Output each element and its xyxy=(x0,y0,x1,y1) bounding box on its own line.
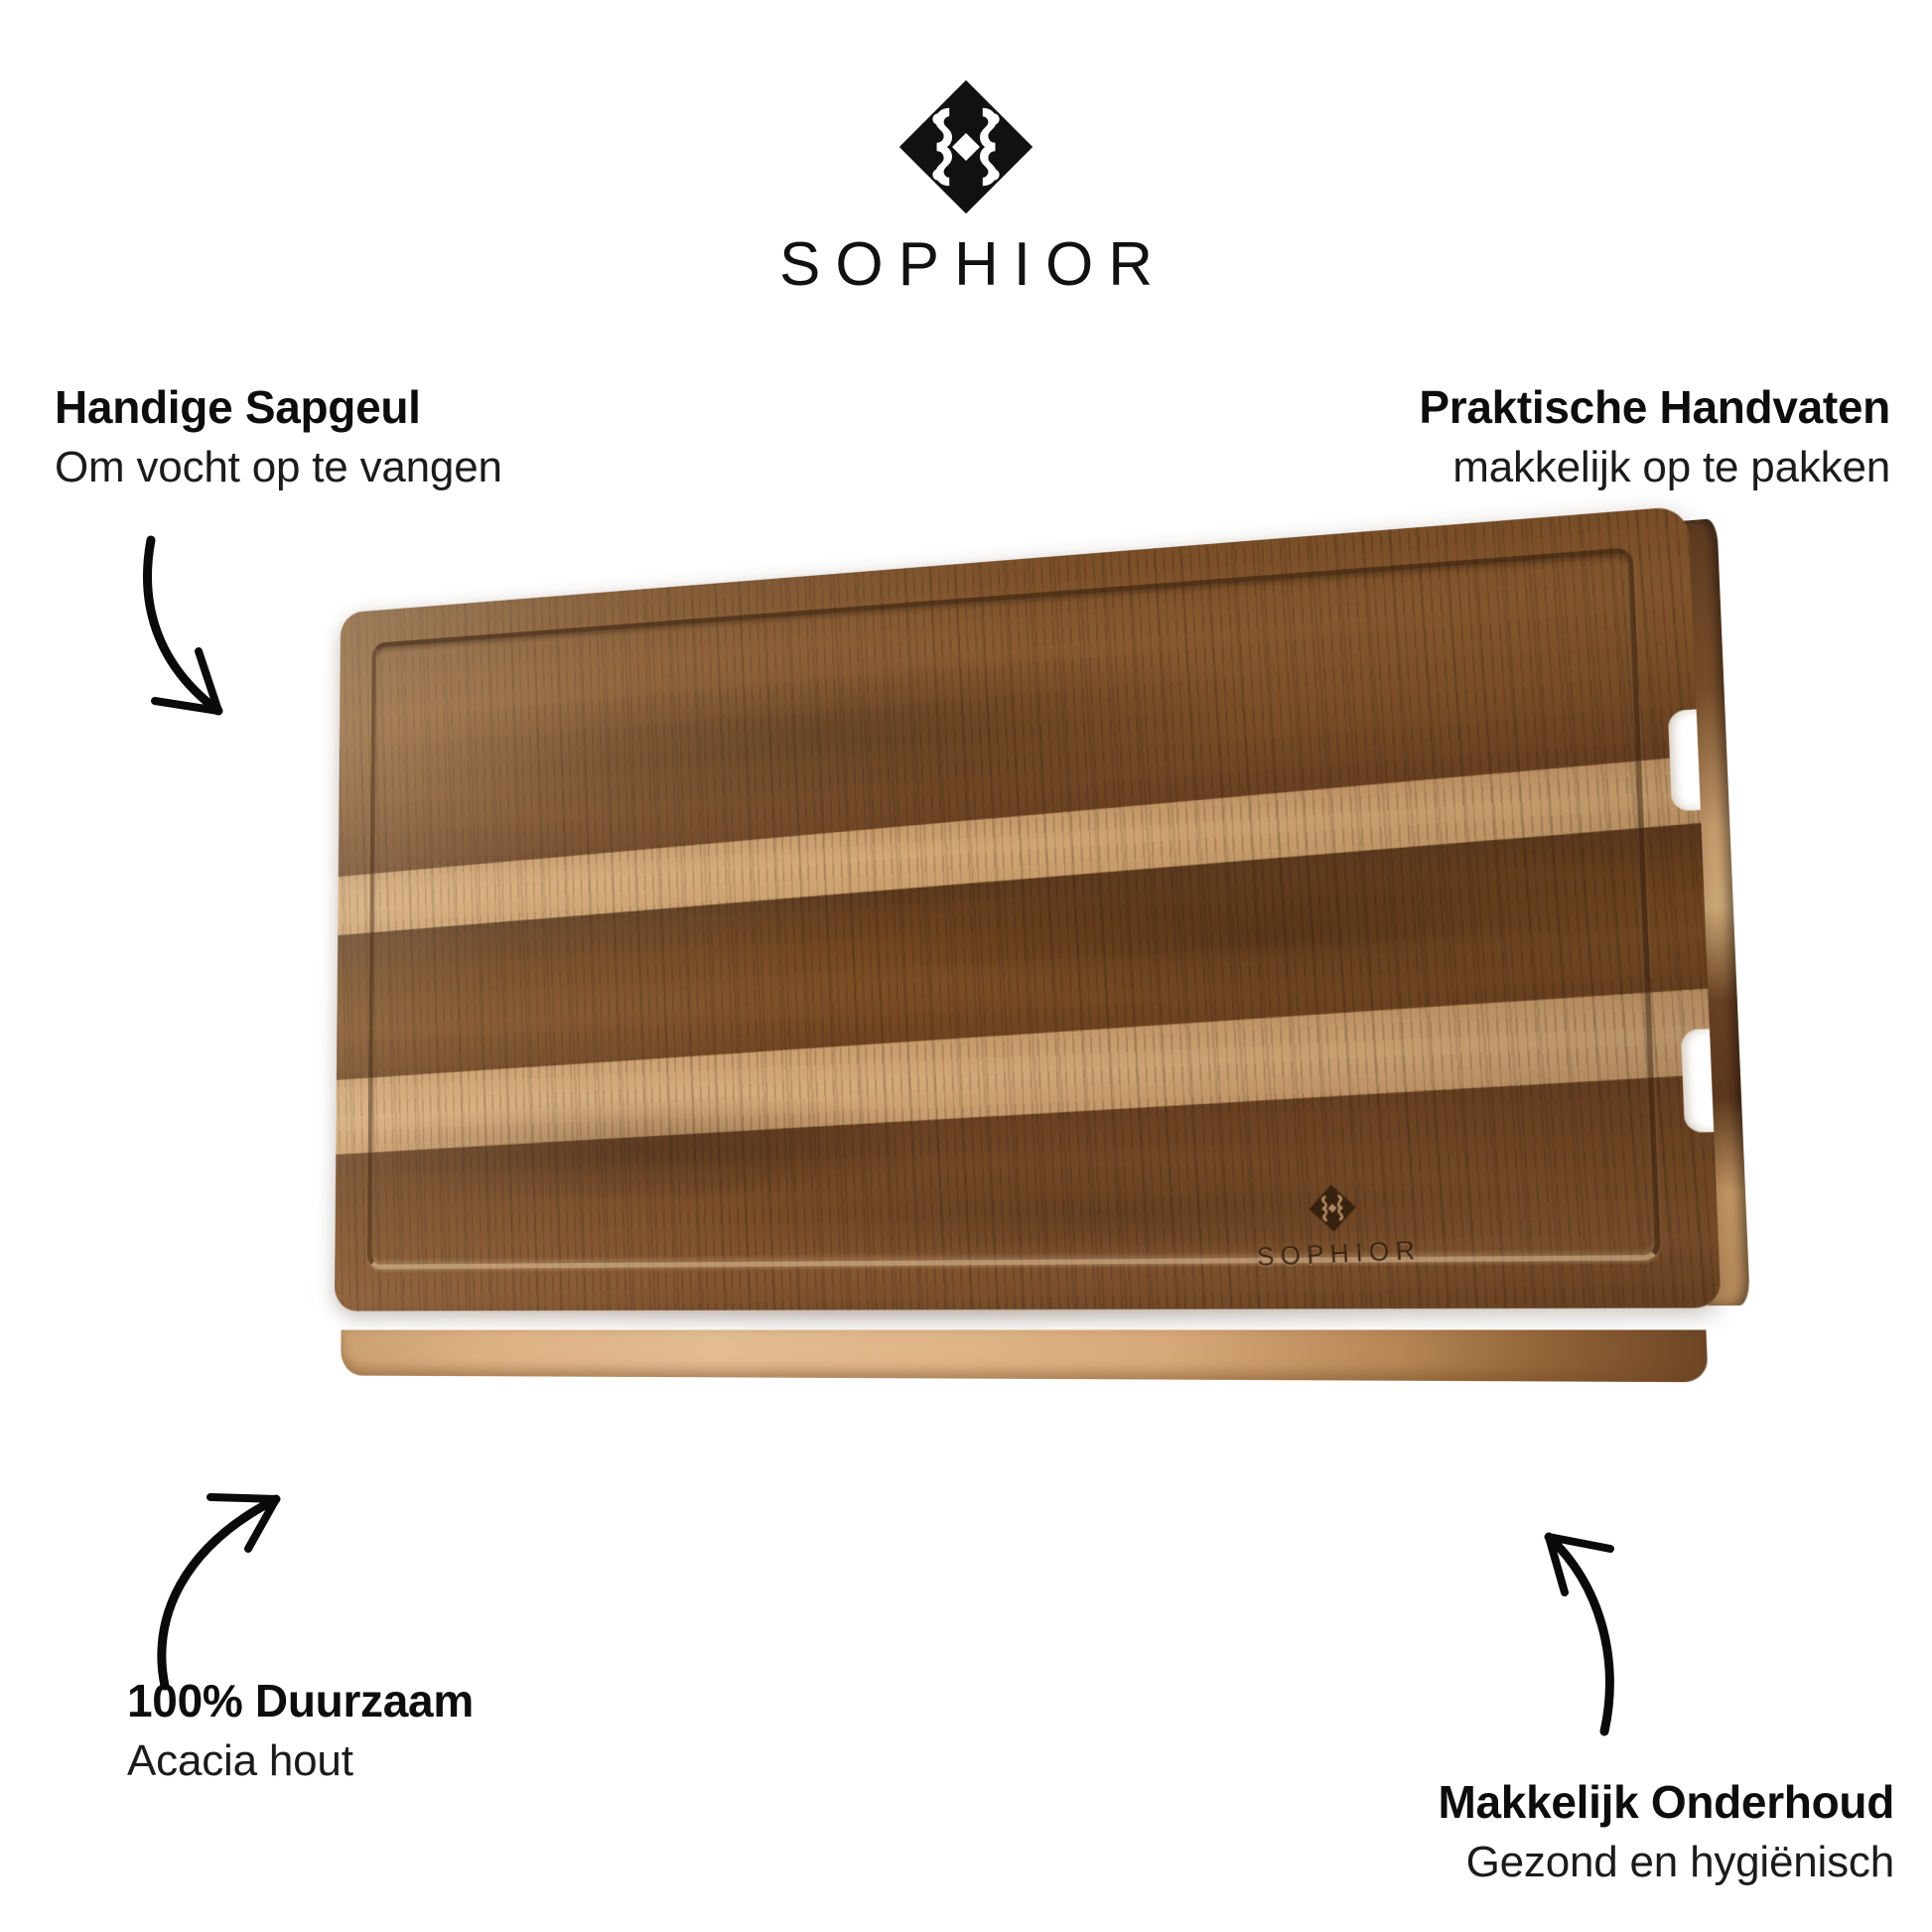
brand-wordmark: SOPHIOR xyxy=(764,234,1168,296)
annotation-subtitle: Om vocht op te vangen xyxy=(55,442,502,493)
sophior-diamond-ornament-icon xyxy=(1307,1181,1359,1234)
annotation-title: Praktische Handvaten xyxy=(1419,382,1890,434)
board-engraved-wordmark: SOPHIOR xyxy=(1250,1236,1422,1274)
brand-header: SOPHIOR xyxy=(0,0,1932,298)
juice-groove xyxy=(367,547,1661,1269)
board-perspective-wrapper: SOPHIOR xyxy=(335,505,1723,1344)
board-top-surface: SOPHIOR xyxy=(335,505,1722,1311)
annotation-title: Handige Sapgeul xyxy=(55,382,502,434)
annotation-handige-sapgeul: Handige Sapgeul Om vocht op te vangen xyxy=(55,382,502,492)
annotation-praktische-handvaten: Praktische Handvaten makkelijk op te pak… xyxy=(1419,382,1890,492)
annotation-subtitle: makkelijk op te pakken xyxy=(1419,442,1890,493)
curved-arrow-up-right-icon xyxy=(137,1477,336,1706)
product-cutting-board: SOPHIOR xyxy=(268,556,1678,1350)
board-engraved-branding: SOPHIOR xyxy=(1238,1178,1431,1274)
annotation-subtitle: Gezond en hygiënisch xyxy=(1438,1837,1894,1888)
board-front-edge-face xyxy=(341,1329,1709,1382)
annotation-makkelijk-onderhoud: Makkelijk Onderhoud Gezond en hygiënisch xyxy=(1438,1777,1894,1887)
curved-arrow-up-left-icon xyxy=(1525,1511,1724,1749)
annotation-title: Makkelijk Onderhoud xyxy=(1438,1777,1894,1829)
sophior-diamond-ornament-icon xyxy=(897,77,1035,216)
annotation-subtitle: Acacia hout xyxy=(127,1735,474,1787)
